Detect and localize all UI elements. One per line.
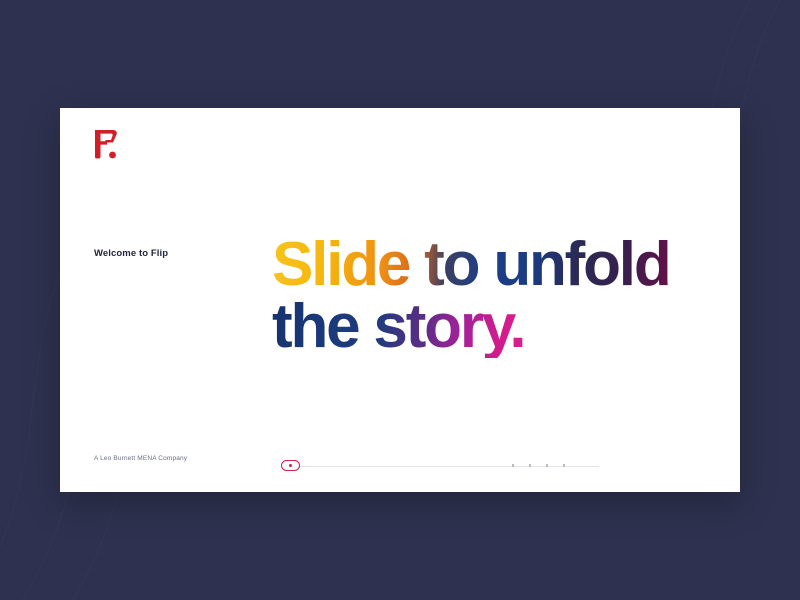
slider-tick [529,464,531,467]
footer-credit: A Leo Burnett MENA Company [94,455,187,462]
slider-handle-dot [289,464,292,467]
headline: Slide to unfold the story. [272,234,732,358]
eyebrow-label: Welcome to Flip [94,248,168,259]
slide-card: Welcome to Flip Slide to unfold the stor… [60,108,740,492]
flip-f-logo-icon [93,128,119,160]
slider-tick [512,464,514,467]
headline-line-1: Slide to unfold [272,234,732,296]
slider-handle[interactable] [281,460,300,471]
slider-tick [563,464,565,467]
page-backdrop: Welcome to Flip Slide to unfold the stor… [0,0,800,600]
slide-to-unfold-slider[interactable] [272,458,602,474]
headline-line-2: the story. [272,296,732,358]
slider-tick [546,464,548,467]
slider-track[interactable] [281,466,599,467]
